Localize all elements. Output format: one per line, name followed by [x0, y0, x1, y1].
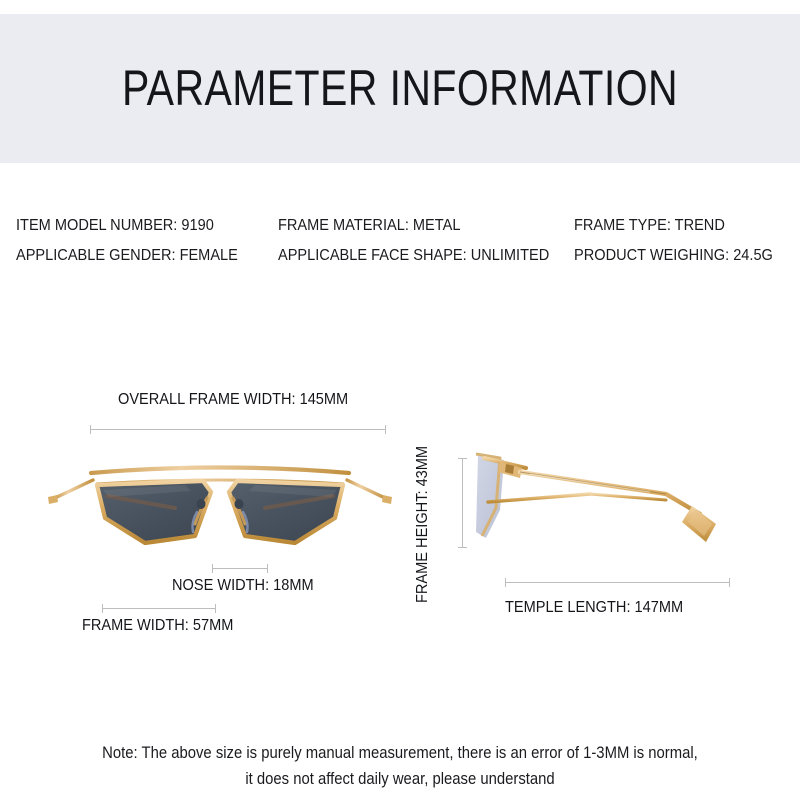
spec-row: APPLICABLE GENDER: FEMALE APPLICABLE FAC…: [16, 246, 784, 276]
note-line-2: it does not affect daily wear, please un…: [40, 766, 760, 792]
sunglasses-front-view: [35, 440, 405, 560]
spec-applicable-face-shape: APPLICABLE FACE SHAPE: UNLIMITED: [278, 246, 556, 266]
dim-line-frame-width: [102, 604, 216, 613]
label-overall-frame-width: OVERALL FRAME WIDTH: 145MM: [118, 390, 348, 410]
label-nose-width: NOSE WIDTH: 18MM: [172, 576, 314, 596]
note-line-1: Note: The above size is purely manual me…: [40, 740, 760, 766]
label-frame-height: FRAME HEIGHT: 43MM: [414, 446, 432, 603]
dim-line-overall-frame-width: [90, 425, 386, 434]
dim-line-temple-length: [505, 578, 730, 587]
dim-line-frame-height: [458, 458, 467, 548]
sunglasses-side-view: [470, 440, 760, 560]
label-frame-width: FRAME WIDTH: 57MM: [82, 616, 233, 636]
parameter-information-page: PARAMETER INFORMATION ITEM MODEL NUMBER:…: [0, 0, 800, 800]
page-title: PARAMETER INFORMATION: [72, 60, 728, 116]
measurement-note: Note: The above size is purely manual me…: [0, 740, 800, 792]
label-temple-length: TEMPLE LENGTH: 147MM: [505, 598, 683, 618]
spec-row: ITEM MODEL NUMBER: 9190 FRAME MATERIAL: …: [16, 216, 784, 246]
spec-frame-material: FRAME MATERIAL: METAL: [278, 216, 556, 236]
spec-applicable-gender: APPLICABLE GENDER: FEMALE: [16, 246, 262, 266]
spec-grid: ITEM MODEL NUMBER: 9190 FRAME MATERIAL: …: [16, 216, 784, 276]
spec-item-model-number: ITEM MODEL NUMBER: 9190: [16, 216, 262, 236]
dimension-diagram: OVERALL FRAME WIDTH: 145MM: [0, 370, 800, 660]
spec-product-weighing: PRODUCT WEIGHING: 24.5G: [574, 246, 771, 266]
dim-line-nose-width: [212, 564, 268, 573]
spec-frame-type: FRAME TYPE: TREND: [574, 216, 771, 236]
